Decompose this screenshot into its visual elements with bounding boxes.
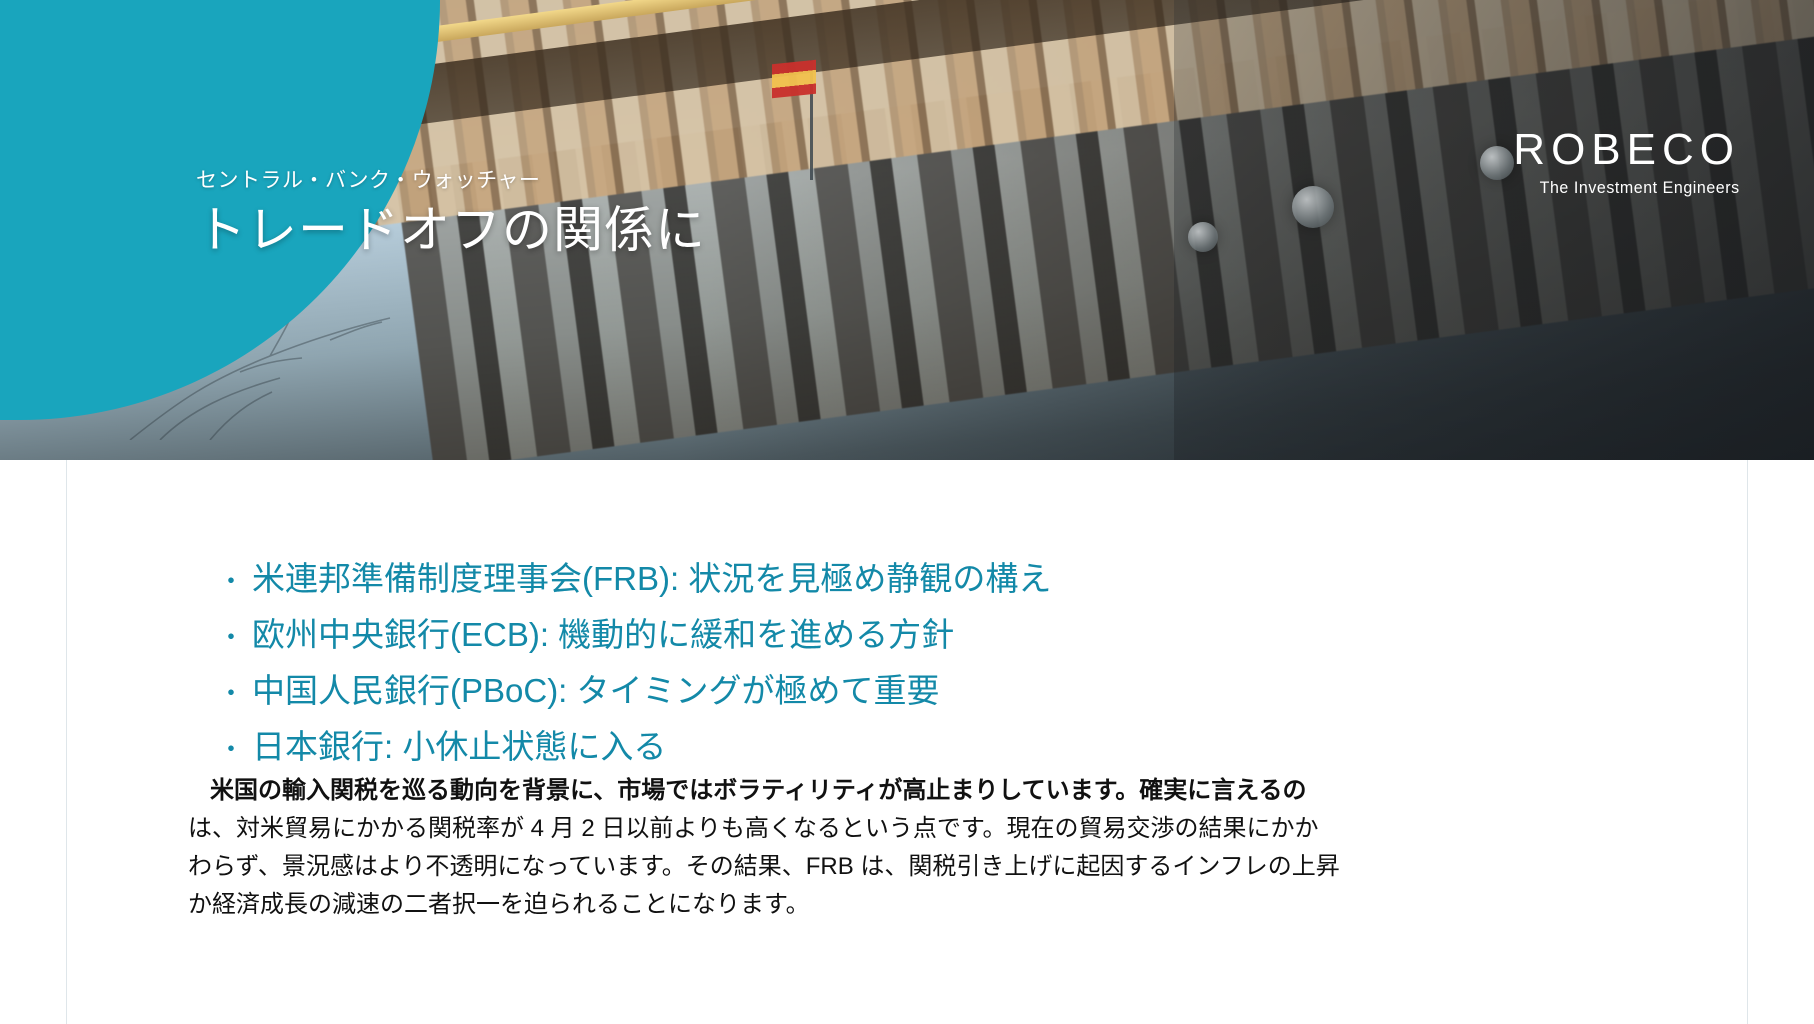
paragraph-line-2: は、対米貿易にかかる関税率が 4 月 2 日以前よりも高くなるという点です。現在… <box>188 810 1598 848</box>
paragraph-line-4: か経済成長の減速の二者択一を迫られることになります。 <box>188 886 1598 924</box>
list-item: ・ 欧州中央銀行(ECB): 機動的に緩和を進める方針 <box>218 608 1518 664</box>
paragraph-line-3: わらず、景況感はより不透明になっています。その結果、FRB は、関税引き上げに起… <box>188 848 1598 886</box>
brand-tagline: The Investment Engineers <box>1527 179 1740 196</box>
page-title: トレードオフの関係に <box>196 201 706 260</box>
hero-text-block: セントラル・バンク・ウォッチャー トレードオフの関係に <box>196 168 706 260</box>
facade-medallion-1 <box>1292 186 1334 228</box>
summary-bullet-list: ・ 米連邦準備制度理事会(FRB): 状況を見極め静観の構え ・ 欧州中央銀行(… <box>218 552 1518 776</box>
robeco-logo: ROBECO The Investment Engineers <box>1513 128 1740 196</box>
list-item: ・ 米連邦準備制度理事会(FRB): 状況を見極め静観の構え <box>218 552 1518 608</box>
hero-banner: セントラル・バンク・ウォッチャー トレードオフの関係に ROBECO The I… <box>0 0 1814 460</box>
paragraph-line-1-rest: 確実に言えるの <box>1139 777 1306 804</box>
brand-wordmark: ROBECO <box>1513 128 1740 172</box>
bullet-dot-icon: ・ <box>218 722 252 776</box>
bullet-text: 中国人民銀行(PBoC): タイミングが極めて重要 <box>252 664 1518 718</box>
right-margin-rule <box>1747 460 1748 1024</box>
list-item: ・ 中国人民銀行(PBoC): タイミングが極めて重要 <box>218 664 1518 720</box>
bullet-text: 欧州中央銀行(ECB): 機動的に緩和を進める方針 <box>252 608 1518 662</box>
bullet-text: 米連邦準備制度理事会(FRB): 状況を見極め静観の構え <box>252 552 1518 606</box>
left-margin-rule <box>66 460 67 1024</box>
publication-kicker: セントラル・バンク・ウォッチャー <box>196 168 706 193</box>
list-item: ・ 日本銀行: 小休止状態に入る <box>218 720 1518 776</box>
bullet-text: 日本銀行: 小休止状態に入る <box>252 720 1518 774</box>
flag <box>772 60 816 99</box>
body-paragraph: 米国の輸入関税を巡る動向を背景に、市場ではボラティリティが高止まりしています。確… <box>188 772 1598 924</box>
bullet-dot-icon: ・ <box>218 666 252 720</box>
facade-medallion-3 <box>1188 222 1218 252</box>
bullet-dot-icon: ・ <box>218 554 252 608</box>
bullet-dot-icon: ・ <box>218 610 252 664</box>
facade-medallion-2 <box>1480 146 1514 180</box>
paragraph-line-1: 米国の輸入関税を巡る動向を背景に、市場ではボラティリティが高止まりしています。確… <box>188 772 1598 810</box>
paragraph-line-1-bold: 米国の輸入関税を巡る動向を背景に、市場ではボラティリティが高止まりしています。 <box>210 777 1139 804</box>
facade-shadow-overlay <box>1174 0 1814 460</box>
